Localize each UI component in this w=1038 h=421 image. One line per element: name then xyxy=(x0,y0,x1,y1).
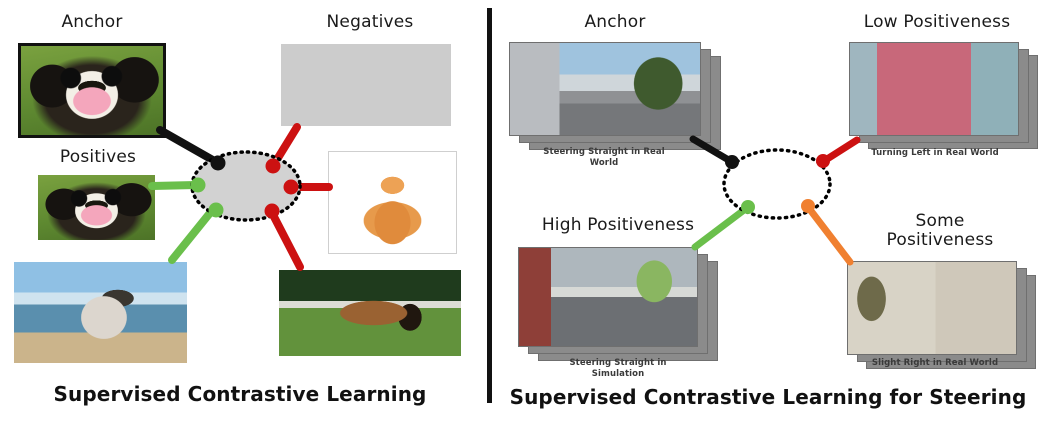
image-slight-right-real xyxy=(847,261,1017,355)
link-positive-husky xyxy=(172,208,214,260)
dot-anchor-left xyxy=(211,156,226,171)
dot-negative-horse xyxy=(265,204,280,219)
right-link-dots xyxy=(725,154,830,214)
image-crocodile-negative xyxy=(281,44,451,126)
dot-positive-dog xyxy=(191,178,206,193)
figure-root: Anchor Positives Negatives Supervised Co… xyxy=(0,0,1038,421)
caption-left-panel: Supervised Contrastive Learning xyxy=(0,382,480,406)
right-links xyxy=(693,139,857,262)
heading-anchor-right: Anchor xyxy=(545,13,685,32)
sublabel-high-positiveness: Steering Straight in Simulation xyxy=(528,358,708,379)
dot-low-positiveness xyxy=(816,154,830,168)
panel-divider xyxy=(487,8,492,403)
dot-some-positiveness xyxy=(801,199,815,213)
image-street-real-anchor xyxy=(509,42,701,136)
embedding-node-right xyxy=(724,150,830,218)
heading-anchor-left: Anchor xyxy=(22,13,162,32)
sublabel-low-positiveness: Turning Left in Real World xyxy=(840,148,1030,159)
dot-negative-croc xyxy=(266,159,281,174)
dot-anchor-right xyxy=(725,155,739,169)
dot-positive-husky xyxy=(209,203,224,218)
link-anchor-left xyxy=(160,130,218,163)
heading-high-positiveness: High Positiveness xyxy=(513,216,723,235)
dot-negative-cat xyxy=(284,180,299,195)
left-link-dots xyxy=(191,156,299,219)
sublabel-some-positiveness: Slight Right in Real World xyxy=(840,358,1030,369)
caption-right-panel: Supervised Contrastive Learning for Stee… xyxy=(498,385,1038,409)
image-horse-negative xyxy=(279,270,461,356)
image-shop-left-turn xyxy=(849,42,1019,136)
link-some-positiveness xyxy=(808,207,850,262)
left-links xyxy=(152,127,329,267)
image-dog-anchor xyxy=(18,43,166,138)
embedding-node-left xyxy=(192,152,300,220)
link-negative-horse xyxy=(270,209,300,267)
image-cat-negative xyxy=(328,151,457,254)
image-simulation-straight xyxy=(518,247,698,347)
heading-negatives-left: Negatives xyxy=(300,13,440,32)
image-dog-positive xyxy=(38,175,155,240)
link-negative-croc xyxy=(273,127,297,166)
heading-some-positiveness: Some Positiveness xyxy=(845,212,1035,250)
sublabel-anchor-right: Steering Straight in Real World xyxy=(509,147,699,168)
dot-high-positiveness xyxy=(741,200,755,214)
image-husky-positive xyxy=(14,262,187,363)
heading-low-positiveness: Low Positiveness xyxy=(832,13,1038,32)
link-positive-dog xyxy=(152,185,196,186)
heading-positives-left: Positives xyxy=(28,148,168,167)
